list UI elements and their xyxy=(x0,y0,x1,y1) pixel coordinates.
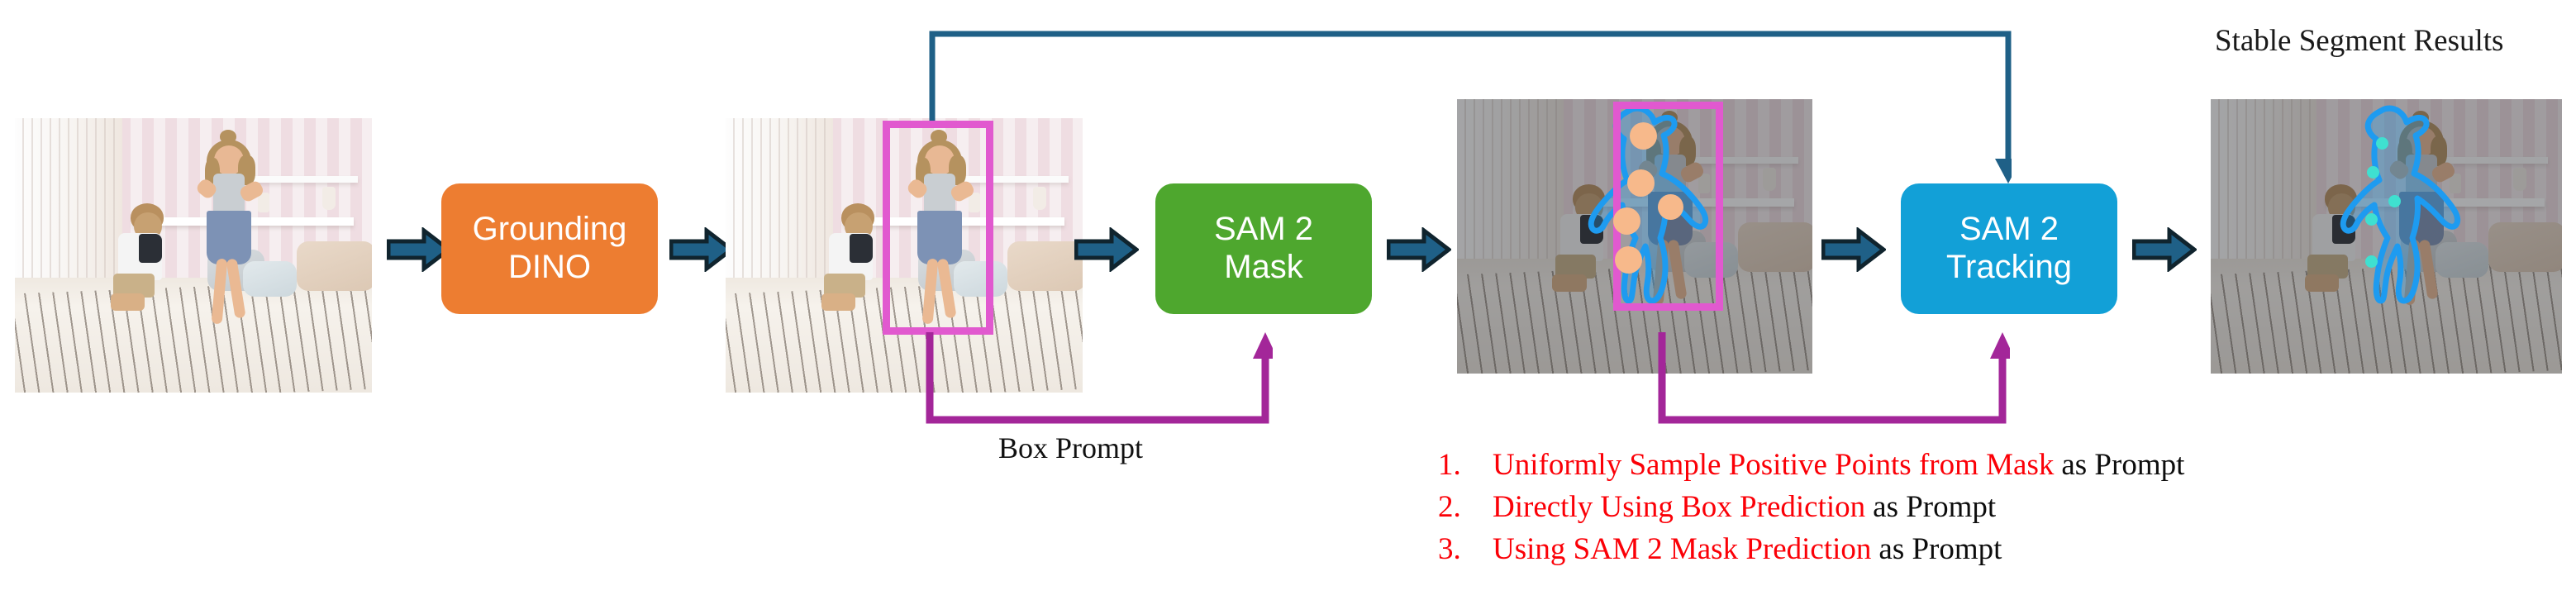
list-item[interactable]: 3. Using SAM 2 Mask Prediction as Prompt xyxy=(1438,531,2184,574)
sam2-tracking-block[interactable]: SAM 2 Tracking xyxy=(1901,183,2117,314)
list-item[interactable]: 1. Uniformly Sample Positive Points from… xyxy=(1438,447,2184,489)
grounding-dino-line1: Grounding xyxy=(473,211,627,249)
sample-point-icon xyxy=(1658,194,1683,220)
input-frame[interactable] xyxy=(15,118,372,393)
pillow-right xyxy=(297,241,372,291)
pillow-right xyxy=(1007,241,1083,291)
list-item-highlight: Directly Using Box Prediction xyxy=(1493,489,1865,525)
sam2-tracking-line1: SAM 2 xyxy=(1946,211,2072,249)
box-to-tracking-connector xyxy=(929,30,2012,187)
list-item-suffix: as Prompt xyxy=(1865,489,1996,525)
list-item-number: 1. xyxy=(1438,447,1493,483)
sample-point-icon xyxy=(1615,246,1642,274)
mask-prompt-connector xyxy=(1658,331,2010,430)
connector-path xyxy=(926,331,1273,430)
list-item-highlight: Using SAM 2 Mask Prediction xyxy=(1493,531,1871,567)
grounding-dino-label: Grounding DINO xyxy=(473,211,627,286)
list-item-suffix: as Prompt xyxy=(2054,447,2184,483)
sam2-mask-line1: SAM 2 xyxy=(1214,211,1313,249)
sam2-mask-block[interactable]: SAM 2 Mask xyxy=(1155,183,1372,314)
boy-figure xyxy=(104,203,183,313)
block-right-arrow-icon xyxy=(1074,227,1139,272)
boy-figure xyxy=(815,203,893,313)
sample-point-icon xyxy=(2365,213,2378,226)
sam2-mask-label: SAM 2 Mask xyxy=(1214,211,1313,286)
sample-point-icon xyxy=(2388,195,2401,207)
block-right-arrow-icon xyxy=(2132,227,2197,272)
box-prompt-connector xyxy=(926,331,1273,430)
result-title: Stable Segment Results xyxy=(2215,23,2503,59)
result-frame[interactable] xyxy=(2211,99,2562,374)
arrow-2 xyxy=(669,227,734,272)
arrow-6 xyxy=(2132,227,2197,272)
box-prompt-label: Box Prompt xyxy=(998,431,1143,465)
prompt-options-list: 1. Uniformly Sample Positive Points from… xyxy=(1438,447,2184,574)
sam2-mask-line2: Mask xyxy=(1214,249,1313,287)
sam2-tracking-line2: Tracking xyxy=(1946,249,2072,287)
girl-figure xyxy=(183,132,275,330)
bedroom-scene xyxy=(15,118,372,393)
list-item[interactable]: 2. Directly Using Box Prediction as Prom… xyxy=(1438,489,2184,531)
arrow-5 xyxy=(1821,227,1886,272)
grounding-dino-block[interactable]: Grounding DINO xyxy=(441,183,658,314)
connector-path xyxy=(929,30,2012,187)
list-item-highlight: Uniformly Sample Positive Points from Ma… xyxy=(1493,447,2054,483)
sam2-tracking-label: SAM 2 Tracking xyxy=(1946,211,2072,286)
vase-b xyxy=(322,187,336,210)
block-right-arrow-icon xyxy=(1821,227,1886,272)
block-right-arrow-icon xyxy=(1387,227,1451,272)
list-item-suffix: as Prompt xyxy=(1871,531,2002,567)
diagram-canvas: Grounding DINO xyxy=(0,0,2576,600)
arrow-3 xyxy=(1074,227,1139,272)
arrow-4 xyxy=(1387,227,1451,272)
connector-path xyxy=(1658,331,2010,430)
list-item-number: 2. xyxy=(1438,489,1493,525)
grounding-dino-line2: DINO xyxy=(473,249,627,287)
vase-b xyxy=(1033,187,1046,210)
block-right-arrow-icon xyxy=(669,227,734,272)
list-item-number: 3. xyxy=(1438,531,1493,567)
